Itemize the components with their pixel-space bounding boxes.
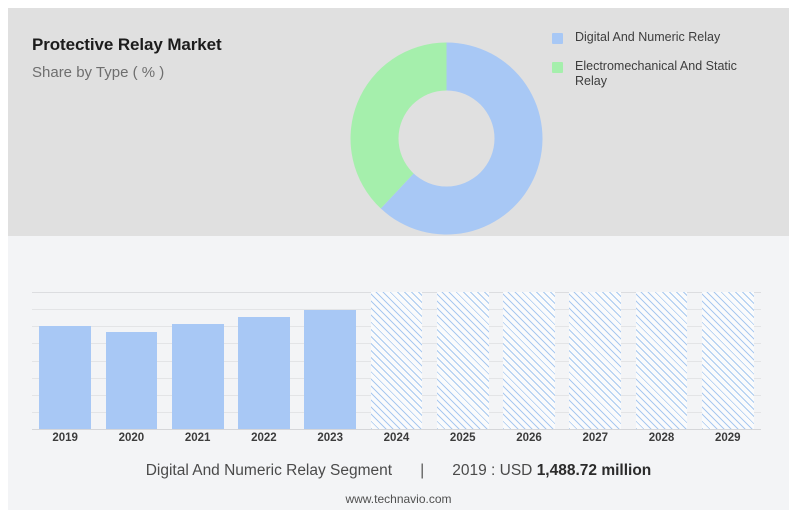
- bar-2028-forecast[interactable]: [636, 292, 688, 429]
- footer-divider: |: [420, 462, 424, 480]
- bar-slot-2022[interactable]: [231, 292, 297, 429]
- bar-2024-forecast[interactable]: [371, 292, 423, 429]
- bar-2021-actual[interactable]: [172, 324, 224, 429]
- page-subtitle: Share by Type ( % ): [32, 62, 352, 84]
- bar-chart-x-axis-labels: 2019202020212022202320242025202620272028…: [32, 432, 761, 444]
- x-axis-label-2029: 2029: [695, 432, 761, 444]
- x-axis-label-2021: 2021: [165, 432, 231, 444]
- source-url[interactable]: www.technavio.com: [8, 492, 789, 506]
- x-axis-label-2023: 2023: [297, 432, 363, 444]
- footer-value-prefix: 2019 : USD: [452, 462, 536, 479]
- footer-value-amount: 1,488.72 million: [537, 462, 652, 479]
- bar-chart-plot-area[interactable]: [32, 292, 761, 429]
- bar-slot-2021[interactable]: [165, 292, 231, 429]
- bar-slot-2023[interactable]: [297, 292, 363, 429]
- bar-slot-2029[interactable]: [695, 292, 761, 429]
- x-axis-label-2019: 2019: [32, 432, 98, 444]
- x-axis-label-2024: 2024: [363, 432, 429, 444]
- bar-slot-2025[interactable]: [430, 292, 496, 429]
- x-axis-label-2025: 2025: [430, 432, 496, 444]
- bar-2029-forecast[interactable]: [702, 292, 754, 429]
- bar-2027-forecast[interactable]: [569, 292, 621, 429]
- footer-value: 2019 : USD 1,488.72 million: [452, 462, 651, 480]
- x-axis-label-2027: 2027: [562, 432, 628, 444]
- x-axis-label-2022: 2022: [231, 432, 297, 444]
- bar-slot-2024[interactable]: [363, 292, 429, 429]
- footer-summary: Digital And Numeric Relay Segment | 2019…: [8, 462, 789, 480]
- bar-2020-actual[interactable]: [106, 332, 158, 429]
- footer-segment-name: Digital And Numeric Relay Segment: [146, 462, 392, 480]
- x-axis-label-2026: 2026: [496, 432, 562, 444]
- bar-2026-forecast[interactable]: [503, 292, 555, 429]
- bar-2019-actual[interactable]: [39, 326, 91, 429]
- bar-slot-2026[interactable]: [496, 292, 562, 429]
- legend-item-electromechanical-and-static-relay[interactable]: Electromechanical And Static Relay: [552, 59, 784, 89]
- donut-hole: [399, 91, 495, 187]
- bar-2023-actual[interactable]: [304, 310, 356, 429]
- legend-swatch-icon-digital: [552, 33, 563, 44]
- legend-label-electromechanical: Electromechanical And Static Relay: [575, 59, 765, 89]
- x-axis-label-2028: 2028: [628, 432, 694, 444]
- title-block: Protective Relay Market Share by Type ( …: [32, 34, 352, 84]
- page-title: Protective Relay Market: [32, 34, 352, 56]
- donut-chart[interactable]: [349, 41, 544, 236]
- gridline: [32, 429, 761, 430]
- segment-panel: 2019202020212022202320242025202620272028…: [8, 236, 789, 510]
- bar-chart-bars: [32, 292, 761, 429]
- bar-2022-actual[interactable]: [238, 317, 290, 429]
- x-axis-label-2020: 2020: [98, 432, 164, 444]
- donut-chart-svg: [349, 41, 544, 236]
- legend-item-digital-and-numeric-relay[interactable]: Digital And Numeric Relay: [552, 30, 784, 45]
- legend: Digital And Numeric Relay Electromechani…: [552, 30, 784, 103]
- share-panel: Protective Relay Market Share by Type ( …: [8, 8, 789, 236]
- legend-label-digital: Digital And Numeric Relay: [575, 30, 720, 45]
- bar-slot-2027[interactable]: [562, 292, 628, 429]
- bar-slot-2019[interactable]: [32, 292, 98, 429]
- bar-2025-forecast[interactable]: [437, 292, 489, 429]
- legend-swatch-icon-electromechanical: [552, 62, 563, 73]
- infographic-canvas: Protective Relay Market Share by Type ( …: [0, 0, 799, 523]
- bar-slot-2028[interactable]: [628, 292, 694, 429]
- bar-slot-2020[interactable]: [98, 292, 164, 429]
